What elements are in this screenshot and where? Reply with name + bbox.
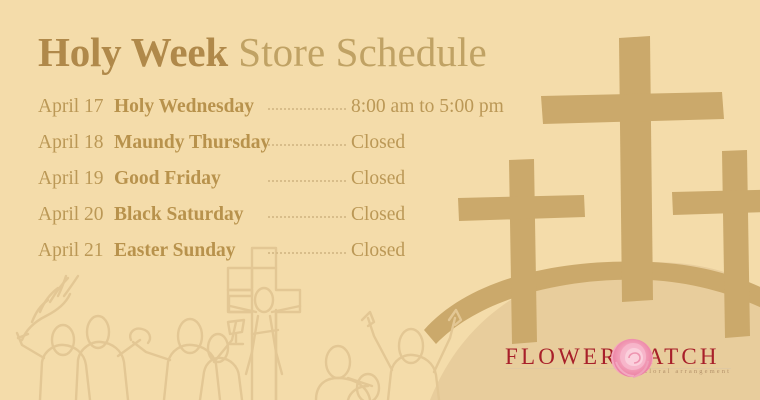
schedule-day-name: Good Friday bbox=[114, 168, 267, 190]
schedule-row: April 20 Black Saturday Closed bbox=[38, 204, 518, 240]
dot-leader bbox=[268, 251, 346, 254]
schedule-date: April 18 bbox=[38, 132, 114, 154]
bread-figure-icon bbox=[76, 316, 140, 400]
dot-leader bbox=[268, 179, 346, 182]
logo-word-flower: FLOWER bbox=[505, 344, 619, 370]
cross-center-icon bbox=[541, 36, 724, 302]
schedule-row: April 18 Maundy Thursday Closed bbox=[38, 132, 518, 168]
schedule-day-name: Easter Sunday bbox=[114, 240, 267, 262]
raised-arms-figure-icon bbox=[362, 310, 461, 400]
schedule-day-name: Maundy Thursday bbox=[114, 132, 267, 154]
schedule-row: April 21 Easter Sunday Closed bbox=[38, 240, 518, 276]
dot-leader bbox=[268, 107, 346, 110]
palm-branch-figure-icon bbox=[17, 276, 90, 400]
page-title-rest: Store Schedule bbox=[228, 29, 487, 75]
schedule-hours: Closed bbox=[347, 204, 405, 226]
schedule-date: April 17 bbox=[38, 96, 114, 118]
holy-week-schedule-banner: Holy Week Store Schedule April 17 Holy W… bbox=[0, 0, 760, 400]
logo-tagline: floral arrangement bbox=[645, 368, 731, 375]
bowed-figure-icon bbox=[316, 346, 372, 400]
schedule-row: April 19 Good Friday Closed bbox=[38, 168, 518, 204]
schedule-hours: Closed bbox=[347, 240, 405, 262]
schedule-list: April 17 Holy Wednesday 8:00 am to 5:00 … bbox=[38, 96, 518, 276]
dot-leader bbox=[268, 143, 346, 146]
bread-and-chalice-figure-icon bbox=[130, 319, 244, 400]
dot-leader bbox=[268, 215, 346, 218]
flower-patch-logo[interactable]: FLOWER PATCH floral arrangement bbox=[505, 338, 741, 388]
schedule-day-name: Holy Wednesday bbox=[114, 96, 267, 118]
kneeling-figure-icon bbox=[200, 334, 242, 400]
schedule-date: April 20 bbox=[38, 204, 114, 226]
schedule-hours: 8:00 am to 5:00 pm bbox=[347, 96, 504, 118]
schedule-hours: Closed bbox=[347, 168, 405, 190]
page-title: Holy Week Store Schedule bbox=[38, 28, 487, 76]
schedule-day-name: Black Saturday bbox=[114, 204, 267, 226]
seated-figure-icon bbox=[348, 374, 379, 400]
schedule-row: April 17 Holy Wednesday 8:00 am to 5:00 … bbox=[38, 96, 518, 132]
rose-icon bbox=[607, 334, 657, 382]
page-title-emphasis: Holy Week bbox=[38, 29, 228, 75]
schedule-hours: Closed bbox=[347, 132, 405, 154]
schedule-date: April 21 bbox=[38, 240, 114, 262]
cross-right-icon bbox=[672, 150, 760, 338]
schedule-date: April 19 bbox=[38, 168, 114, 190]
